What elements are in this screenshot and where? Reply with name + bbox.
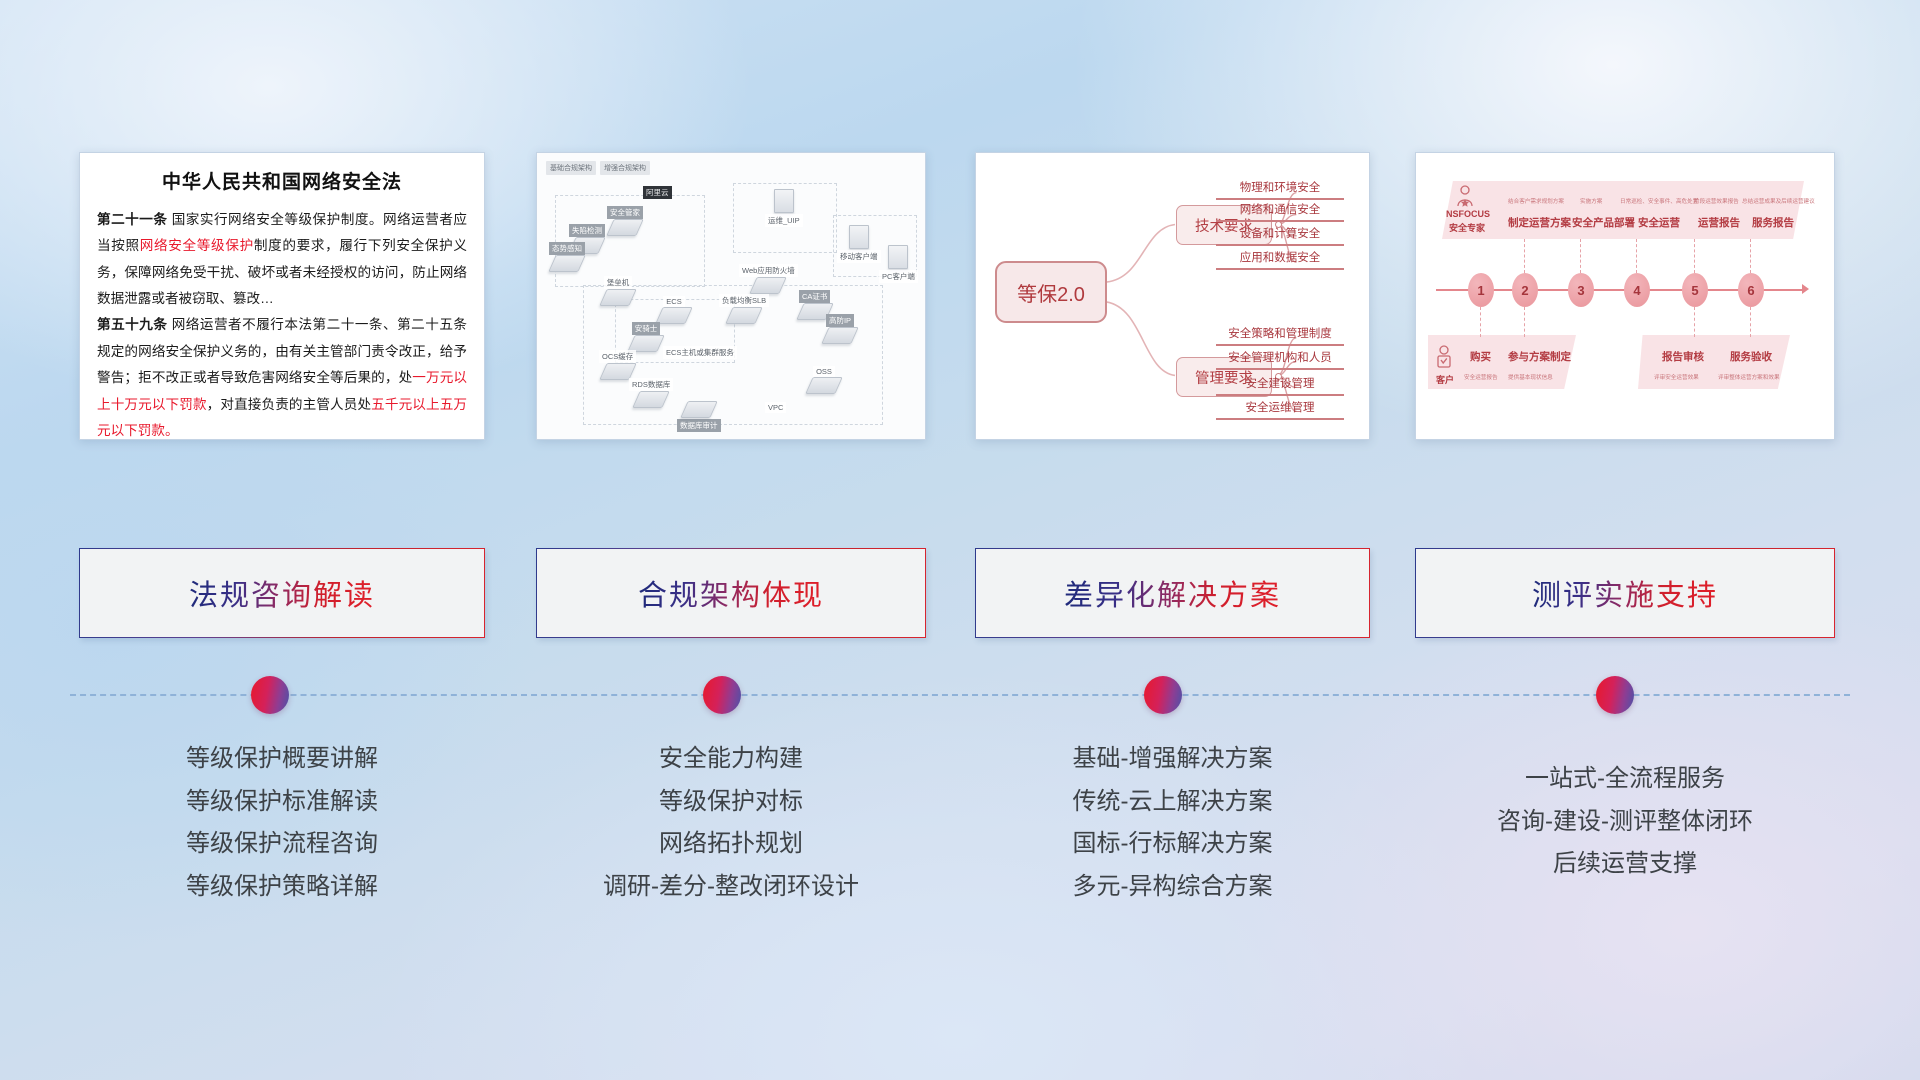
process-bottom-title-5: 报告审核 [1662,349,1704,364]
detail-column-1: 等级保护概要讲解 等级保护标准解读 等级保护流程咨询 等级保护策略详解 [79,738,485,909]
tab-regulation-consulting[interactable]: 法规咨询解读 [79,548,485,638]
law-title: 中华人民共和国网络安全法 [97,167,467,194]
arch-chip-oss [805,377,843,394]
arch-label-ops-uip: 运维_UIP [765,214,803,227]
arch-node-vpc: VPC [765,401,786,413]
arch-chip-pc-client [888,245,908,269]
process-top-title-5: 服务报告 [1752,215,1794,230]
process-top-sub-4: 阶段运营效果报告 [1694,197,1739,205]
arch-node-anqishi: 安骑士 [631,321,661,352]
arch-label-ocs: OCS缓存 [599,350,636,363]
process-axis-arrow-icon [1802,284,1809,294]
tab-compliance-architecture[interactable]: 合规架构体现 [536,548,926,638]
arch-label-oss: OSS [813,366,835,377]
preview-card-row: 中华人民共和国网络安全法 第二十一条 国家实行网络安全等级保护制度。网络运营者应… [0,152,1920,442]
process-step-2[interactable]: 2 [1512,273,1538,307]
card-mindmap[interactable]: 等保2.0 技术要求 物理和环境安全 网络和通信安全 设备和计算安全 应用和数据… [975,152,1370,440]
category-tab-row: 法规咨询解读 合规架构体现 差异化解决方案 测评实施支持 [0,548,1920,644]
process-dash-2 [1524,239,1525,273]
list-item: 基础-增强解决方案 [975,738,1370,781]
law-article-21: 第二十一条 国家实行网络安全等级保护制度。网络运营者应当按照网络安全等级保护制度… [97,207,467,312]
arch-label-mobile-client: 移动客户端 [837,250,881,263]
arch-label-ddos-ip: 高防IP [826,314,854,327]
process-step-3[interactable]: 3 [1568,273,1594,307]
list-item: 等级保护对标 [536,781,926,824]
process-dash-b6 [1750,307,1751,337]
article-59-text-b: ，对直接负责的主管人员处 [207,397,372,412]
card-service-process[interactable]: NSFOCUS 安全专家 制定运营方案 结合客户需求规划方案 安全产品部署 实施… [1415,152,1835,440]
mindmap-root-node[interactable]: 等保2.0 [995,261,1107,323]
process-step-5[interactable]: 5 [1682,273,1708,307]
arch-node-db-audit: 数据库审计 [677,401,721,432]
detail-column-3: 基础-增强解决方案 传统-云上解决方案 国标-行标解决方案 多元-异构综合方案 [975,738,1370,909]
mindmap-leaf-device: 设备和计算安全 [1216,225,1344,246]
architecture-diagram: 基础合规架构 增强合规架构 阿里云 安全管家 失陷检测 [537,153,925,439]
arch-label-pc-client: PC客户端 [879,270,918,283]
arch-chip-ops-uip [774,189,794,213]
process-bottom-sub-5: 评审安全运营效果 [1654,373,1699,381]
arch-node-slb: 负载均衡SLB [719,293,769,324]
tab-assessment-support[interactable]: 测评实施支持 [1415,548,1835,638]
mindmap-leaf-construction: 安全建设管理 [1216,375,1344,396]
process-dash-b5 [1694,307,1695,337]
article-59-label: 第五十九条 [97,317,167,332]
list-item: 调研-差分-整改闭环设计 [536,866,926,909]
arch-label-security-butler: 安全管家 [607,206,643,219]
process-top-sub-2: 实施方案 [1580,197,1602,205]
law-body: 中华人民共和国网络安全法 第二十一条 国家实行网络安全等级保护制度。网络运营者应… [80,153,484,440]
arch-chip-security-butler [606,219,644,236]
tab-label-1: 法规咨询解读 [189,572,375,614]
process-dash-6 [1750,239,1751,273]
arch-node-waf: Web应用防火墙 [739,263,798,294]
tab-label-2: 合规架构体现 [638,572,824,614]
mindmap-leaf-operation: 安全运维管理 [1216,399,1344,420]
article-21-label: 第二十一条 [97,212,167,227]
arch-node-ops-uip: 运维_UIP [765,189,803,227]
architecture-tab-bar: 基础合规架构 增强合规架构 [546,161,650,175]
arch-label-waf: Web应用防火墙 [739,264,798,277]
arch-node-situation: 态势感知 [549,241,585,272]
process-diagram: NSFOCUS 安全专家 制定运营方案 结合客户需求规划方案 安全产品部署 实施… [1416,153,1834,439]
arch-chip-slb [725,307,763,324]
arch-node-rds: RDS数据库 [629,377,673,408]
tab-label-3: 差异化解决方案 [1064,572,1281,614]
mindmap-leaf-application: 应用和数据安全 [1216,249,1344,270]
process-top-title-3: 安全运营 [1638,215,1680,230]
expert-role-label: NSFOCUS [1446,209,1490,219]
process-dash-4 [1636,239,1637,273]
arch-label-situation: 态势感知 [549,242,585,255]
customer-person-icon [1436,345,1452,371]
arch-node-aliyun: 阿里云 [643,185,672,199]
list-item: 多元-异构综合方案 [975,866,1370,909]
process-top-sub-1: 结合客户需求规划方案 [1508,197,1564,205]
process-bottom-title-6: 服务验收 [1730,349,1772,364]
arch-tab-enhanced[interactable]: 增强合规架构 [600,161,650,175]
process-step-1[interactable]: 1 [1468,273,1494,307]
arch-chip-rds [632,391,670,408]
detail-column-2: 安全能力构建 等级保护对标 网络拓扑规划 调研-差分-整改闭环设计 [536,738,926,909]
process-bottom-sub-2: 提供基本现状信息 [1508,373,1553,381]
arch-chip-mobile-client [849,225,869,249]
process-top-title-4: 运营报告 [1698,215,1740,230]
list-item: 网络拓扑规划 [536,823,926,866]
tab-differentiated-solution[interactable]: 差异化解决方案 [975,548,1370,638]
list-item: 一站式-全流程服务 [1415,758,1835,801]
mindmap-leaf-policy: 安全策略和管理制度 [1216,325,1344,346]
article-21-highlight: 网络安全等级保护 [140,238,254,253]
arch-node-pc-client: PC客户端 [879,245,918,283]
mindmap-leaf-physical: 物理和环境安全 [1216,179,1344,200]
arch-label-vpc: VPC [765,402,786,413]
detail-column-row: 等级保护概要讲解 等级保护标准解读 等级保护流程咨询 等级保护策略详解 安全能力… [0,738,1920,958]
process-top-title-2: 安全产品部署 [1572,215,1635,230]
arch-node-ocs: OCS缓存 [599,349,636,380]
timeline-track [0,668,1920,722]
process-step-6[interactable]: 6 [1738,273,1764,307]
arch-node-bastion: 堡垒机 [603,275,633,306]
list-item: 等级保护策略详解 [79,866,485,909]
arch-label-slb: 负载均衡SLB [719,294,769,307]
list-item: 国标-行标解决方案 [975,823,1370,866]
expert-person-icon [1456,185,1474,207]
arch-label-ecs: ECS [663,296,684,307]
arch-label-bastion: 堡垒机 [604,276,633,289]
process-bottom-sub-6: 评审整体运营方案和效果 [1718,373,1780,381]
process-top-sub-3: 日常巡检、安全事件、高危处置 [1620,197,1698,205]
mindmap-leaf-network: 网络和通信安全 [1216,201,1344,222]
list-item: 后续运营支撑 [1415,843,1835,886]
arch-node-oss: OSS [809,365,839,394]
process-bottom-title-2: 参与方案制定 [1508,349,1571,364]
arch-node-mobile-client: 移动客户端 [837,225,881,263]
process-bottom-title-1: 购买 [1470,349,1491,364]
process-dash-b2 [1524,307,1525,337]
process-dash-3 [1580,239,1581,273]
process-top-title-1: 制定运营方案 [1508,215,1571,230]
arch-node-ddos-ip: 高防IP [825,313,855,344]
arch-chip-bastion [599,289,637,306]
list-item: 等级保护标准解读 [79,781,485,824]
arch-node-ecs-cluster: ECS主机或集群服务 [663,345,737,359]
list-item: 等级保护流程咨询 [79,823,485,866]
list-item: 安全能力构建 [536,738,926,781]
arch-chip-ddos-ip [821,327,859,344]
timeline-dot-1[interactable] [251,676,289,714]
timeline-dashed-line [70,694,1850,696]
card-law-document[interactable]: 中华人民共和国网络安全法 第二十一条 国家实行网络安全等级保护制度。网络运营者应… [79,152,485,440]
process-dash-5 [1694,239,1695,273]
process-dash-b1 [1480,307,1481,337]
process-bottom-sub-1: 安全运营报告 [1464,373,1498,381]
arch-label-db-audit: 数据库审计 [677,419,721,432]
arch-label-ecs-cluster: ECS主机或集群服务 [663,346,737,359]
slide-canvas: 中华人民共和国网络安全法 第二十一条 国家实行网络安全等级保护制度。网络运营者应… [0,0,1920,1080]
mindmap-diagram: 等保2.0 技术要求 物理和环境安全 网络和通信安全 设备和计算安全 应用和数据… [976,153,1369,439]
arch-label-ca: CA证书 [799,290,830,303]
detail-column-4: 一站式-全流程服务 咨询-建设-测评整体闭环 后续运营支撑 [1415,738,1835,886]
expert-role-label-cn: 安全专家 [1449,221,1485,234]
process-step-4[interactable]: 4 [1624,273,1650,307]
timeline-dot-2[interactable] [703,676,741,714]
arch-chip-waf [750,277,788,294]
arch-label-breach-detect: 失陷检测 [569,224,605,237]
arch-node-security-butler: 安全管家 [607,205,643,236]
timeline-dot-3[interactable] [1144,676,1182,714]
list-item: 咨询-建设-测评整体闭环 [1415,801,1835,844]
list-item: 传统-云上解决方案 [975,781,1370,824]
list-item: 等级保护概要讲解 [79,738,485,781]
process-top-sub-5: 总结运营成果及后续运营建议 [1742,197,1815,205]
process-band-expert [1442,181,1804,239]
arch-chip-situation [548,255,586,272]
card-cloud-architecture[interactable]: 基础合规架构 增强合规架构 阿里云 安全管家 失陷检测 [536,152,926,440]
arch-tab-basic[interactable]: 基础合规架构 [546,161,596,175]
mindmap-leaf-org: 安全管理机构和人员 [1216,349,1344,370]
tab-label-4: 测评实施支持 [1532,572,1718,614]
arch-node-ecs: ECS [659,295,689,324]
arch-chip-db-audit [680,401,718,418]
timeline-dot-4[interactable] [1596,676,1634,714]
arch-label-aliyun: 阿里云 [643,186,672,199]
customer-role-label: 客户 [1436,373,1454,386]
arch-label-rds: RDS数据库 [629,378,673,391]
arch-label-anqishi: 安骑士 [632,322,661,335]
law-article-59: 第五十九条 网络运营者不履行本法第二十一条、第二十五条规定的网络安全保护义务的，… [97,312,467,440]
